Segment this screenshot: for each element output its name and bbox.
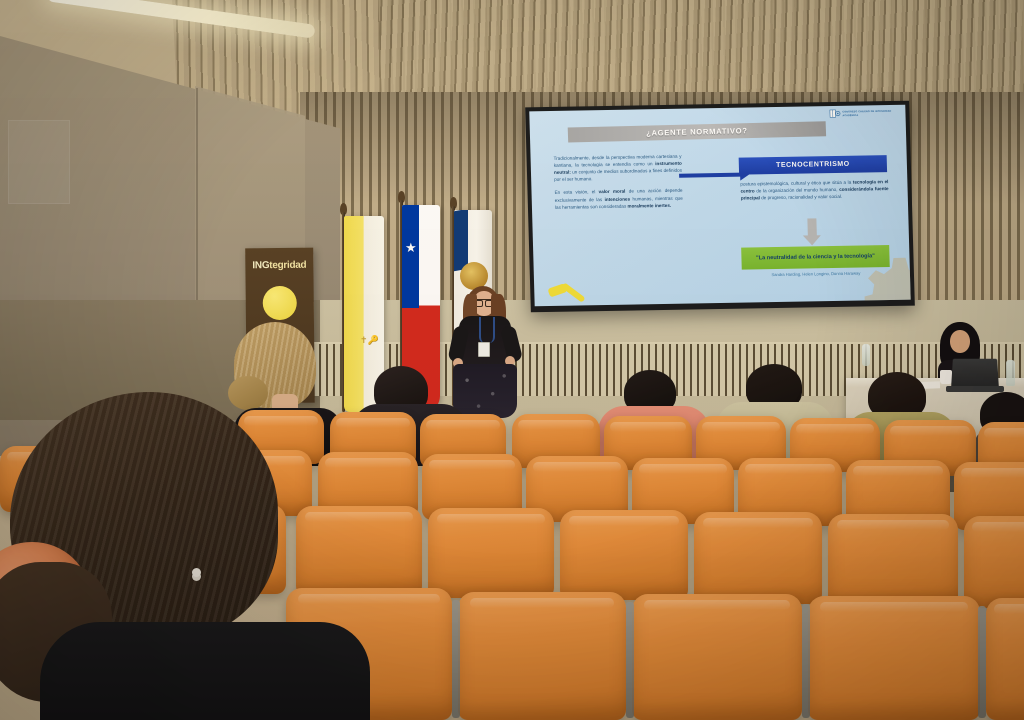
ingtegridad-brand: INGtegridad <box>249 260 309 272</box>
seat <box>808 596 980 720</box>
slide-right-body-text: postura epistemológica, cultural y ética… <box>740 179 889 202</box>
right-p-mid: de la organización del mundo humano, <box>755 187 840 193</box>
banner-dot-large <box>263 286 297 320</box>
ingtegridad-suffix: tegridad <box>269 260 306 271</box>
university-flag-band <box>454 210 468 271</box>
gavel-icon <box>546 281 593 306</box>
book-gear-logo-icon <box>829 109 840 119</box>
foreground-shoulders <box>40 622 370 720</box>
right-arrow-icon <box>679 173 741 178</box>
congress-logo: CONGRESO CHILENO DE INTEGRIDAD ACADÉMICA <box>829 108 899 119</box>
seat-armrest <box>626 602 634 718</box>
ingtegridad-prefix: ING <box>252 260 269 271</box>
neutralidad-box: "La neutralidad de la ciencia y la tecno… <box>741 245 890 270</box>
seat-armrest <box>802 604 810 718</box>
chile-star-icon: ★ <box>405 241 417 254</box>
slide-left-body-text: Tradicionalmente, desde la perspectiva m… <box>553 153 683 211</box>
right-p-pre: postura epistemológica, cultural y ética… <box>740 180 853 187</box>
projection-screen: CONGRESO CHILENO DE INTEGRIDAD ACADÉMICA… <box>525 101 915 313</box>
congress-logo-text: CONGRESO CHILENO DE INTEGRIDAD ACADÉMICA <box>842 110 899 117</box>
water-bottle-left <box>862 344 870 366</box>
left-p1-post: un conjunto de medios subordinados a fin… <box>554 168 682 182</box>
moderator-face <box>950 330 970 353</box>
seat <box>560 510 688 600</box>
slide-title-bar: ¿AGENTE NORMATIVO? <box>568 121 826 142</box>
water-bottle-right <box>1006 360 1015 386</box>
vatican-keys-icon: ✝🔑 <box>360 336 380 370</box>
concrete-patch <box>8 120 70 204</box>
seat-armrest <box>452 600 460 718</box>
down-arrow-icon <box>807 218 817 236</box>
seat <box>632 594 802 720</box>
slide-left-paragraph-2: En esta visión, el valor moral de una ac… <box>554 187 683 211</box>
tecnocentrismo-label: TECNOCENTRISMO <box>776 161 850 169</box>
left-p2-pre: En esta visión, el <box>554 190 598 196</box>
seat <box>964 516 1024 608</box>
auditorium-photo: CONGRESO CHILENO DE INTEGRIDAD ACADÉMICA… <box>0 0 1024 720</box>
left-p2-bold-2: intenciones <box>605 196 631 201</box>
chile-blue-canton <box>402 205 419 308</box>
foreground-audience-member <box>0 392 370 720</box>
badge-icon <box>478 342 490 357</box>
left-p2-bold-1: valor moral <box>599 189 626 194</box>
seat <box>428 508 554 598</box>
seat <box>458 592 626 720</box>
slide-title: ¿AGENTE NORMATIVO? <box>646 126 748 137</box>
right-p-post: de progreso, racionalidad y valor social… <box>760 194 842 200</box>
laptop-icon <box>951 359 999 389</box>
lanyard-icon <box>479 317 495 343</box>
neutralidad-quote: "La neutralidad de la ciencia y la tecno… <box>752 253 879 262</box>
seat-armrest <box>978 606 986 718</box>
earring-icon <box>192 568 201 577</box>
seat <box>828 514 958 606</box>
seat <box>694 512 822 604</box>
left-p2-bold-3: moralmente inertes. <box>627 203 671 209</box>
seat <box>986 598 1024 720</box>
tecnocentrismo-box: TECNOCENTRISMO <box>739 155 887 175</box>
presentation-slide: CONGRESO CHILENO DE INTEGRIDAD ACADÉMICA… <box>529 105 910 306</box>
